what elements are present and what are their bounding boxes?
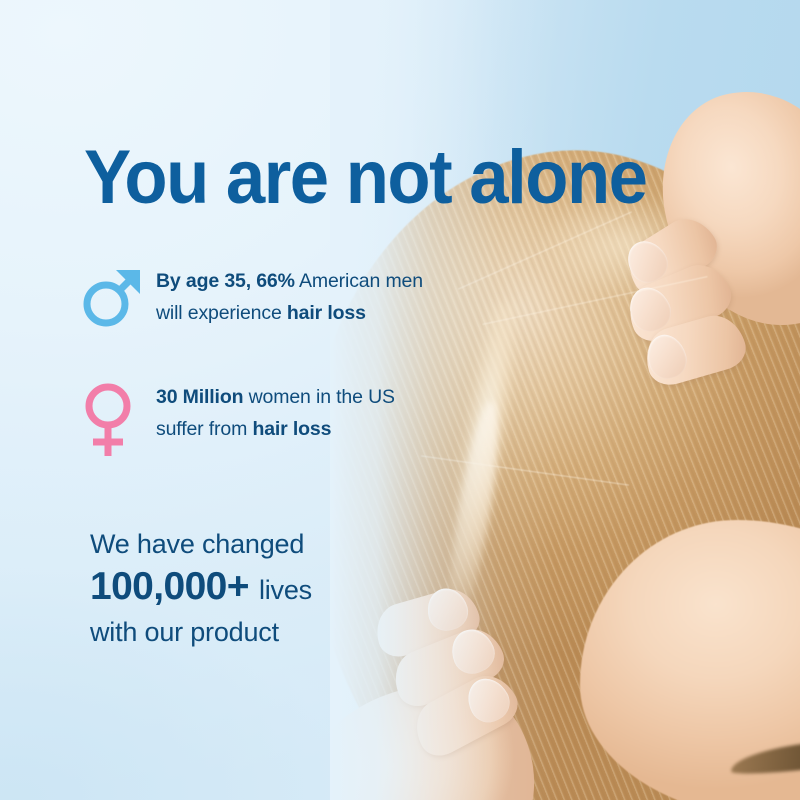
stat-women-line1-rest: women in the US <box>243 386 395 408</box>
stat-block-women: 30 Million women in the US suffer from h… <box>82 380 395 460</box>
content-layer: You are not alone By age 35, 66% America… <box>0 0 800 800</box>
female-gender-icon <box>82 380 156 460</box>
stat-men-line2-rest: will experience <box>156 302 287 324</box>
lives-changed-number: 100,000+ <box>90 565 249 608</box>
stat-text-women: 30 Million women in the US suffer from h… <box>156 380 395 445</box>
stat-men-line2: will experience hair loss <box>156 298 423 330</box>
lives-changed-block: We have changed 100,000+lives with our p… <box>90 528 312 649</box>
lives-changed-line1: We have changed <box>90 528 312 560</box>
stat-block-men: By age 35, 66% American men will experie… <box>82 264 423 329</box>
stat-women-line2-bold: hair loss <box>252 418 331 440</box>
stat-women-line2-rest: suffer from <box>156 418 252 440</box>
stat-women-line1: 30 Million women in the US <box>156 382 395 414</box>
stat-men-line2-bold: hair loss <box>287 302 366 324</box>
stat-men-line1-bold: By age 35, 66% <box>156 270 295 292</box>
male-gender-icon <box>82 264 156 328</box>
lives-changed-line2: 100,000+lives <box>90 564 312 610</box>
stat-text-men: By age 35, 66% American men will experie… <box>156 264 423 329</box>
stat-women-line1-bold: 30 Million <box>156 386 243 408</box>
stat-men-line1: By age 35, 66% American men <box>156 266 423 298</box>
lives-changed-unit: lives <box>259 575 312 605</box>
stat-men-line1-rest: American men <box>295 270 423 292</box>
page-title: You are not alone <box>84 140 646 216</box>
promo-poster: You are not alone By age 35, 66% America… <box>0 0 800 800</box>
lives-changed-line3: with our product <box>90 616 312 648</box>
stat-women-line2: suffer from hair loss <box>156 414 395 446</box>
